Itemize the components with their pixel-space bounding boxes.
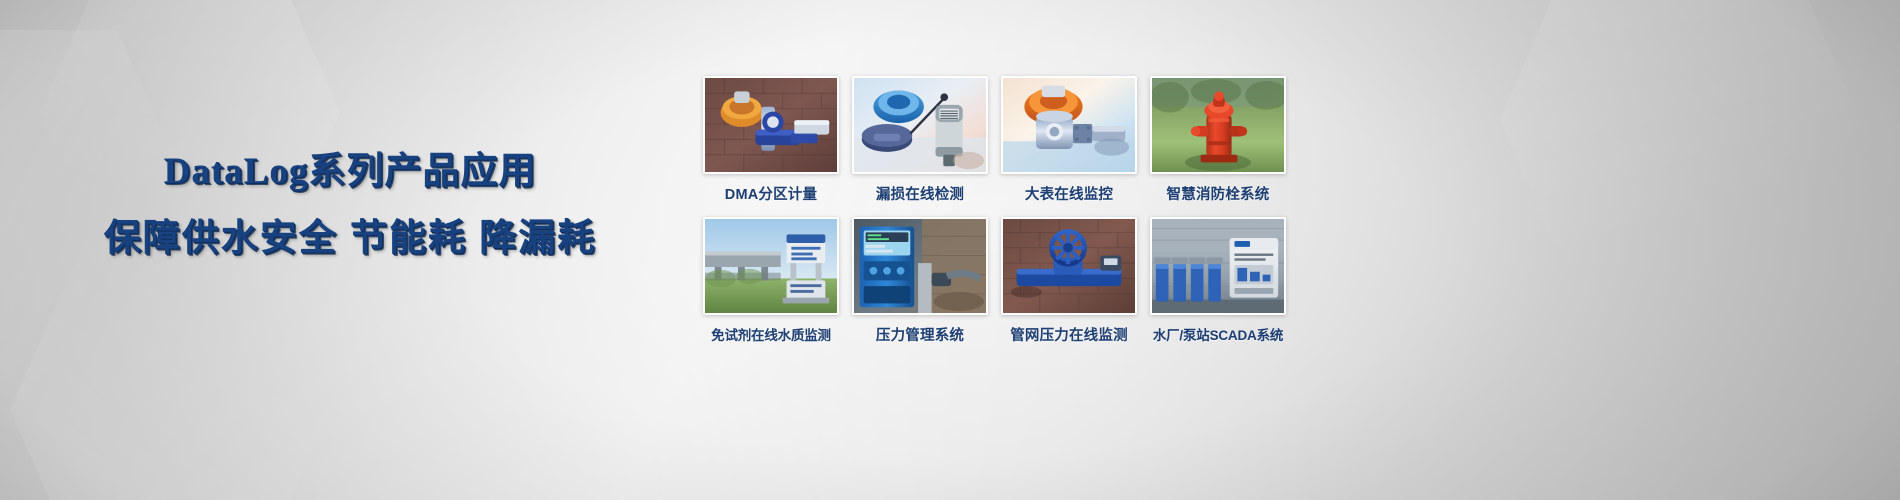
product-application-grid: DMA分区计量: [703, 76, 1283, 358]
pipeline-pressure-valve-photo: [1001, 217, 1137, 315]
smart-fire-hydrant-photo: [1150, 76, 1286, 174]
product-card-leak-detection[interactable]: 漏损在线检测: [852, 76, 988, 204]
product-card-label: 漏损在线检测: [852, 183, 988, 204]
scada-pump-station-photo: [1150, 217, 1286, 315]
product-application-banner: DataLog系列产品应用 保障供水安全 节能耗 降漏耗: [0, 0, 1900, 500]
product-card-label: 智慧消防栓系统: [1150, 183, 1286, 204]
large-water-meter-photo: [1001, 76, 1137, 174]
banner-headline: DataLog系列产品应用 保障供水安全 节能耗 降漏耗: [0, 150, 700, 260]
leak-detection-logger-photo: [852, 76, 988, 174]
product-card-dma-metering[interactable]: DMA分区计量: [703, 76, 839, 204]
dma-flow-meter-photo: [703, 76, 839, 174]
product-card-large-meter-monitoring[interactable]: 大表在线监控: [1001, 76, 1137, 204]
product-card-scada-system[interactable]: 水厂/泵站SCADA系统: [1150, 217, 1286, 345]
product-card-pressure-management[interactable]: 压力管理系统: [852, 217, 988, 345]
hexagon-watermark-3: [10, 230, 330, 500]
product-card-label: 压力管理系统: [852, 324, 988, 345]
product-row-2: 免试剂在线水质监测: [703, 217, 1283, 345]
product-card-smart-hydrant[interactable]: 智慧消防栓系统: [1150, 76, 1286, 204]
water-quality-station-photo: [703, 217, 839, 315]
hexagon-watermark-4: [1500, 0, 1860, 330]
product-card-label: 管网压力在线监测: [1001, 324, 1137, 345]
product-card-pipeline-pressure[interactable]: 管网压力在线监测: [1001, 217, 1137, 345]
product-card-label: 免试剂在线水质监测: [703, 324, 839, 344]
product-row-1: DMA分区计量: [703, 76, 1283, 204]
product-card-label: 大表在线监控: [1001, 183, 1137, 204]
pressure-management-cabinet-photo: [852, 217, 988, 315]
product-card-reagentless-water-quality[interactable]: 免试剂在线水质监测: [703, 217, 839, 345]
product-card-label: 水厂/泵站SCADA系统: [1150, 324, 1286, 344]
product-card-label: DMA分区计量: [703, 183, 839, 204]
headline-line-1: DataLog系列产品应用: [0, 150, 700, 194]
headline-line-2: 保障供水安全 节能耗 降漏耗: [0, 216, 700, 260]
